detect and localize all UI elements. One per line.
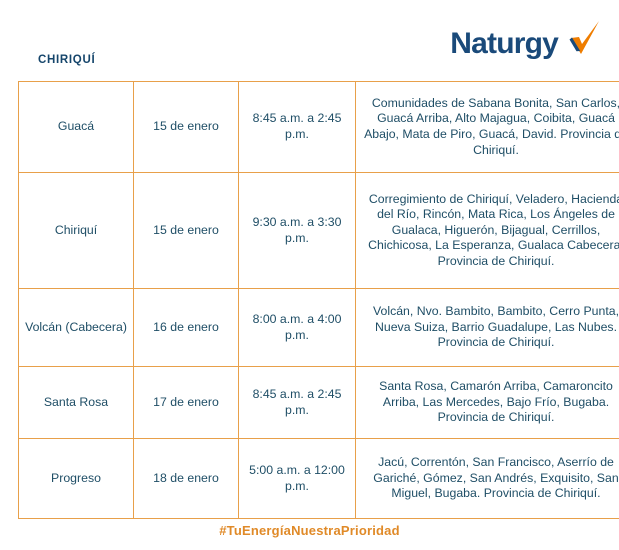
table-row: Progreso 18 de enero 5:00 a.m. a 12:00 p… — [19, 439, 619, 519]
cell-date: 16 de enero — [134, 289, 239, 367]
cell-date: 18 de enero — [134, 439, 239, 519]
logo-wordmark: Naturgy — [450, 29, 558, 59]
cell-detail: Corregimiento de Chiriquí, Veladero, Hac… — [356, 173, 619, 289]
cell-date: 17 de enero — [134, 367, 239, 439]
page-footer: #TuEnergíaNuestraPrioridad — [0, 522, 619, 540]
cell-date: 15 de enero — [134, 82, 239, 173]
outage-table: Guacá 15 de enero 8:45 a.m. a 2:45 p.m. … — [18, 81, 619, 519]
cell-detail: Jacú, Correntón, San Francisco, Aserrío … — [356, 439, 619, 519]
outage-schedule-page: CHIRIQUÍ Naturgy Guacá 15 de enero 8:45 … — [0, 0, 619, 550]
cell-place: Volcán (Cabecera) — [19, 289, 134, 367]
cell-place: Guacá — [19, 82, 134, 173]
cell-time: 8:45 a.m. a 2:45 p.m. — [239, 82, 356, 173]
naturgy-flame-icon — [559, 18, 601, 60]
cell-place: Chiriquí — [19, 173, 134, 289]
cell-place: Progreso — [19, 439, 134, 519]
cell-time: 8:00 a.m. a 4:00 p.m. — [239, 289, 356, 367]
outage-table-wrap: Guacá 15 de enero 8:45 a.m. a 2:45 p.m. … — [18, 81, 600, 519]
table-row: Chiriquí 15 de enero 9:30 a.m. a 3:30 p.… — [19, 173, 619, 289]
cell-date: 15 de enero — [134, 173, 239, 289]
table-row: Volcán (Cabecera) 16 de enero 8:00 a.m. … — [19, 289, 619, 367]
table-row: Guacá 15 de enero 8:45 a.m. a 2:45 p.m. … — [19, 82, 619, 173]
cell-time: 9:30 a.m. a 3:30 p.m. — [239, 173, 356, 289]
campaign-hashtag: #TuEnergíaNuestraPrioridad — [219, 523, 400, 538]
table-row: Santa Rosa 17 de enero 8:45 a.m. a 2:45 … — [19, 367, 619, 439]
cell-time: 8:45 a.m. a 2:45 p.m. — [239, 367, 356, 439]
cell-detail: Santa Rosa, Camarón Arriba, Camaroncito … — [356, 367, 619, 439]
cell-time: 5:00 a.m. a 12:00 p.m. — [239, 439, 356, 519]
cell-detail: Comunidades de Sabana Bonita, San Carlos… — [356, 82, 619, 173]
naturgy-logo: Naturgy — [450, 22, 601, 66]
cell-place: Santa Rosa — [19, 367, 134, 439]
page-title: CHIRIQUÍ — [38, 54, 95, 67]
page-header: CHIRIQUÍ Naturgy — [0, 0, 619, 81]
cell-detail: Volcán, Nvo. Bambito, Bambito, Cerro Pun… — [356, 289, 619, 367]
